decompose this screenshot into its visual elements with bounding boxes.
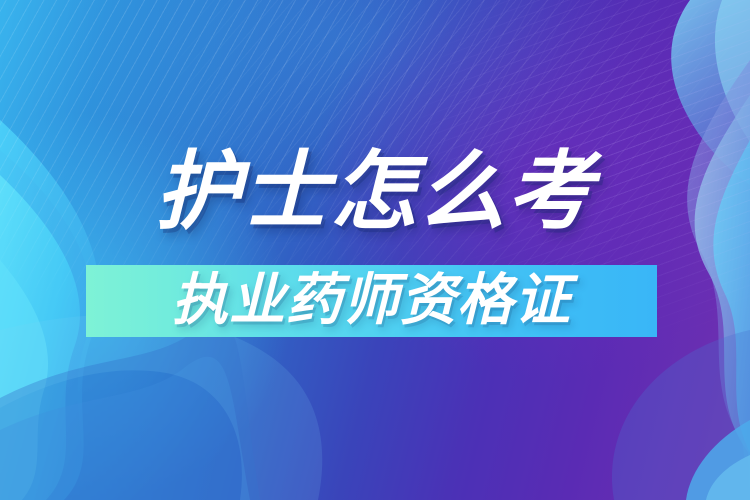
promo-banner: 护士怎么考 执业药师资格证 [0,0,750,500]
banner-content: 护士怎么考 执业药师资格证 [0,0,750,500]
subtitle-band: 执业药师资格证 [86,265,657,337]
headline-text: 护士怎么考 [0,149,750,235]
subtitle-text: 执业药师资格证 [172,273,571,329]
